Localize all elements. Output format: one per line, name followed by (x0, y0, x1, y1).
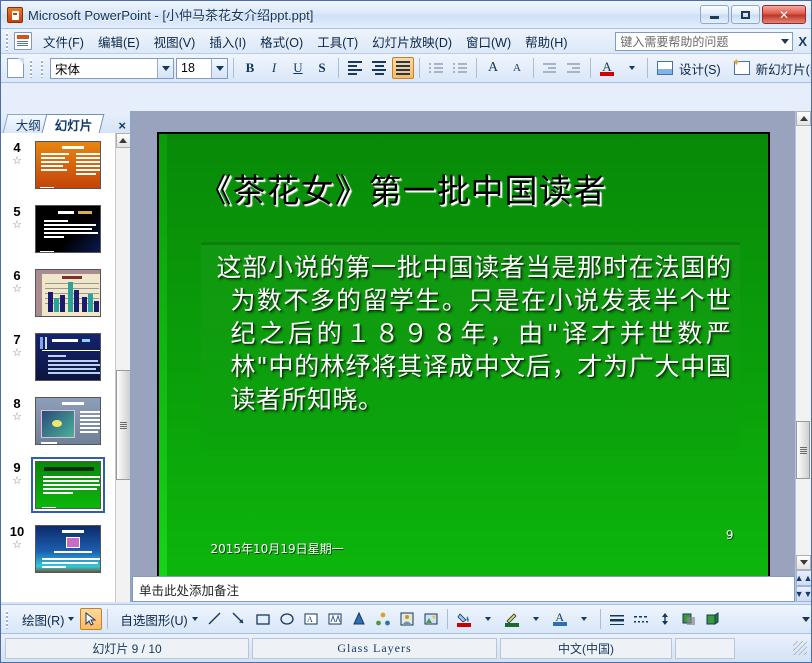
slide-thumbnail (35, 397, 101, 445)
list-item[interactable]: 6 ☆ (1, 265, 115, 321)
thumb-meta: 4 ☆ (3, 137, 31, 167)
animation-icon: ☆ (3, 283, 31, 295)
text-shadow-button[interactable]: S (311, 57, 333, 79)
decrease-indent-icon (543, 63, 557, 73)
font-color-swatch (600, 72, 614, 76)
powerpoint-icon (7, 7, 23, 23)
svg-text:A: A (307, 615, 313, 624)
3d-style-icon[interactable] (702, 608, 724, 630)
italic-button[interactable]: I (263, 57, 285, 79)
thumb-meta: 7 ☆ (3, 329, 31, 359)
chevron-down-icon[interactable] (157, 59, 173, 78)
close-panel-icon[interactable]: × (118, 118, 126, 133)
thumb-meta: 5 ☆ (3, 201, 31, 231)
diagram-icon[interactable] (348, 608, 370, 630)
font-color-button[interactable]: A (596, 57, 618, 79)
table-row[interactable] (31, 521, 105, 577)
table-row[interactable] (31, 393, 105, 449)
ask-a-question-area: 键入需要帮助的问题 X (615, 32, 811, 51)
table-row[interactable] (31, 265, 105, 321)
decrease-font-size-button[interactable]: A (506, 57, 528, 79)
toolbar-separator (590, 58, 591, 78)
previous-slide-button[interactable]: ▲▲ (796, 570, 812, 586)
wordart-icon[interactable] (324, 608, 346, 630)
toolbar-separator (647, 58, 648, 78)
insert-picture-icon[interactable] (420, 608, 442, 630)
text-box-icon[interactable]: A (300, 608, 322, 630)
list-item[interactable]: 8 ☆ (1, 393, 115, 449)
slide-body-text[interactable]: 这部小说的第一批中国读者当是那时在法国的为数不多的留学生。只是在小说发表半个世纪… (217, 251, 732, 416)
bold-button[interactable]: B (239, 57, 261, 79)
line-color-dropdown[interactable] (525, 608, 547, 630)
window-controls: ✕ (700, 5, 809, 24)
scroll-up-button[interactable] (116, 133, 131, 148)
tab-slides[interactable]: 幻灯片 (42, 114, 104, 133)
design-button[interactable]: 设计(S) (652, 57, 729, 80)
slide-panel: 大纲 幻灯片 × 4 ☆ (1, 111, 131, 602)
font-color-dropdown[interactable] (620, 57, 642, 79)
tab-slides-label: 幻灯片 (55, 115, 93, 134)
status-spare (675, 638, 735, 659)
thumb-number: 9 (3, 461, 31, 475)
font-color-icon[interactable]: A (549, 608, 571, 630)
slide-thumbnail (35, 141, 101, 189)
slide-thumbnail (35, 269, 101, 317)
slide-date[interactable]: 2015年10月19日星期一 (211, 540, 411, 558)
toolbar-separator (338, 58, 339, 78)
status-bar: 幻灯片 9 / 10 Glass Layers 中文(中国) (1, 633, 811, 662)
resize-grip-icon[interactable] (793, 641, 807, 655)
oval-icon[interactable] (276, 608, 298, 630)
next-slide-button[interactable]: ▼▼ (796, 586, 812, 602)
line-color-icon[interactable] (501, 608, 523, 630)
slide-body-placeholder[interactable]: 这部小说的第一批中国读者当是那时在法国的为数不多的留学生。只是在小说发表半个世纪… (201, 242, 740, 450)
scroll-track[interactable] (796, 126, 811, 555)
underline-button[interactable]: U (287, 57, 309, 79)
draw-menu-label: 绘图(R) (19, 610, 67, 629)
list-item[interactable]: 5 ☆ (1, 201, 115, 257)
numbered-list-icon (429, 63, 443, 73)
drawbar-options-button[interactable] (800, 607, 811, 631)
ask-a-question-input[interactable]: 键入需要帮助的问题 (615, 32, 793, 51)
scroll-thumb[interactable] (796, 421, 810, 479)
dash-style-icon[interactable] (630, 608, 652, 630)
thumb-meta: 9 ☆ (3, 457, 31, 487)
clip-art-icon[interactable] (396, 608, 418, 630)
slide-thumbnail-selected (35, 461, 101, 509)
minimize-button[interactable] (700, 5, 729, 24)
toolbar-gripper-1[interactable] (28, 59, 35, 78)
close-button[interactable]: ✕ (762, 5, 806, 24)
current-slide[interactable]: 《茶花女》第一批中国读者 这部小说的第一批中国读者当是那时在法国的为数不多的留学… (157, 132, 770, 582)
increase-font-size-button[interactable]: A (482, 57, 504, 79)
slide-title[interactable]: 《茶花女》第一批中国读者 (199, 164, 728, 212)
thumb-number: 7 (3, 333, 31, 347)
font-color-icon: A (602, 61, 611, 72)
animation-icon: ☆ (3, 475, 31, 487)
slide-edit-area[interactable]: 《茶花女》第一批中国读者 这部小说的第一批中国读者当是那时在法国的为数不多的留学… (131, 111, 795, 602)
align-justify-button[interactable] (392, 57, 414, 79)
numbered-list-button[interactable] (425, 57, 447, 79)
thumb-meta: 10 ☆ (3, 521, 31, 551)
autoshapes-label: 自选图形(U) (117, 610, 190, 629)
notes-placeholder: 单击此处添加备注 (139, 580, 239, 599)
design-icon (657, 61, 673, 75)
window-title: Microsoft PowerPoint - [小仲马茶花女介绍ppt.ppt] (28, 5, 313, 24)
decrease-indent-button[interactable] (539, 57, 561, 79)
panel-tabs: 大纲 幻灯片 × (1, 111, 130, 133)
line-icon[interactable] (204, 608, 226, 630)
toolbar-gripper-2[interactable] (39, 59, 46, 78)
table-row[interactable] (31, 201, 105, 257)
font-name-combo[interactable]: 宋体 (50, 58, 174, 79)
restore-button[interactable] (731, 5, 760, 24)
thumb-number: 5 (3, 205, 31, 219)
font-size-combo[interactable]: 18 (176, 58, 228, 79)
arrow-style-icon[interactable] (654, 608, 676, 630)
thumb-number: 10 (3, 525, 31, 539)
align-left-icon (348, 61, 362, 75)
table-row[interactable] (31, 329, 105, 385)
thumb-meta: 6 ☆ (3, 265, 31, 295)
menu-item-window[interactable]: 窗口(W) (459, 29, 518, 54)
toolbar-separator (476, 58, 477, 78)
line-style-icon[interactable] (606, 608, 628, 630)
document-icon (14, 32, 32, 50)
align-left-button[interactable] (344, 57, 366, 79)
arrow-icon[interactable] (228, 608, 250, 630)
increase-indent-button[interactable] (563, 57, 585, 79)
scroll-track[interactable] (116, 148, 131, 602)
shadow-style-icon[interactable] (678, 608, 700, 630)
work-area: 大纲 幻灯片 × 4 ☆ (1, 111, 811, 602)
ask-a-question-placeholder: 键入需要帮助的问题 (620, 33, 728, 50)
powerpoint-window: Microsoft PowerPoint - [小仲马茶花女介绍ppt.ppt]… (0, 0, 812, 663)
formatting-toolbar: 宋体 18 B I U S (1, 54, 811, 83)
list-item[interactable]: 7 ☆ (1, 329, 115, 385)
fill-color-icon[interactable] (453, 608, 475, 630)
select-arrow-icon[interactable] (80, 608, 102, 630)
design-label: 设计(S) (676, 59, 724, 78)
thumbnails-area: 4 ☆ (1, 133, 130, 602)
status-slide-counter: 幻灯片 9 / 10 (5, 638, 249, 659)
toolbar-separator (107, 609, 108, 629)
drawing-toolbar: 绘图(R) 自选图形(U) A (1, 604, 811, 633)
thumb-number: 4 (3, 141, 31, 155)
new-slide-button[interactable]: 新幻灯片(N) (729, 57, 811, 80)
slide-panel-scrollbar[interactable] (115, 133, 130, 602)
animation-icon: ☆ (3, 411, 31, 423)
toolbar-separator (233, 58, 234, 78)
scroll-up-button[interactable] (796, 111, 811, 126)
animation-icon: ☆ (3, 219, 31, 231)
bulleted-list-button[interactable] (449, 57, 471, 79)
font-size-value: 18 (177, 61, 199, 75)
draw-menu-button[interactable]: 绘图(R) (14, 608, 79, 631)
org-chart-icon[interactable] (372, 608, 394, 630)
font-name-value: 宋体 (51, 59, 84, 78)
thumbnail-list[interactable]: 4 ☆ (1, 133, 115, 602)
fill-color-dropdown[interactable] (477, 608, 499, 630)
list-item[interactable]: 9 ☆ (1, 457, 115, 513)
drawbar-gripper[interactable] (4, 610, 11, 629)
list-item[interactable]: 4 ☆ (1, 137, 115, 193)
tab-outline-label: 大纲 (16, 115, 41, 134)
chevron-down-icon[interactable] (211, 59, 227, 78)
menu-item-tools[interactable]: 工具(T) (310, 29, 365, 54)
notes-pane[interactable]: 单击此处添加备注 (132, 576, 795, 602)
chevron-down-icon[interactable] (781, 39, 789, 44)
status-design-template: Glass Layers (252, 638, 497, 659)
toolbar-separator (447, 609, 448, 629)
thumb-number: 8 (3, 397, 31, 411)
bulleted-list-icon (453, 63, 467, 73)
close-icon[interactable]: X (798, 34, 807, 49)
menu-item-edit[interactable]: 编辑(E) (91, 29, 147, 54)
animation-icon: ☆ (3, 539, 31, 551)
scroll-thumb[interactable] (116, 370, 131, 480)
table-row[interactable] (31, 457, 105, 513)
thumb-number: 6 (3, 269, 31, 283)
autoshapes-menu-button[interactable]: 自选图形(U) (112, 608, 202, 631)
menu-item-view[interactable]: 视图(V) (147, 29, 203, 54)
new-slide-label: 新幻灯片(N) (753, 59, 811, 78)
toolbar-separator (533, 58, 534, 78)
font-color-dropdown[interactable] (573, 608, 595, 630)
increase-indent-icon (567, 63, 581, 73)
menu-item-slideshow[interactable]: 幻灯片放映(D) (365, 29, 459, 54)
menu-item-help[interactable]: 帮助(H) (518, 29, 574, 54)
new-document-button[interactable] (4, 57, 26, 79)
list-item[interactable]: 10 ☆ (1, 521, 115, 577)
toolbar-separator (419, 58, 420, 78)
align-center-button[interactable] (368, 57, 390, 79)
slide-thumbnail (35, 333, 101, 381)
slide-thumbnail (35, 525, 101, 573)
thumb-meta: 8 ☆ (3, 393, 31, 423)
align-justify-icon (396, 61, 410, 75)
menu-gripper[interactable] (4, 32, 11, 51)
toolbar-separator (600, 609, 601, 629)
status-language: 中文(中国) (500, 638, 672, 659)
align-center-icon (372, 61, 386, 75)
slide-number[interactable]: 9 (726, 528, 734, 542)
menu-item-format[interactable]: 格式(O) (253, 29, 310, 54)
animation-icon: ☆ (3, 347, 31, 359)
title-bar: Microsoft PowerPoint - [小仲马茶花女介绍ppt.ppt]… (1, 1, 811, 29)
scroll-down-button[interactable] (796, 555, 811, 570)
animation-icon: ☆ (3, 155, 31, 167)
slide-thumbnail (35, 205, 101, 253)
menu-bar: 文件(F) 编辑(E) 视图(V) 插入(I) 格式(O) 工具(T) 幻灯片放… (1, 29, 811, 54)
rectangle-icon[interactable] (252, 608, 274, 630)
new-slide-icon (734, 61, 750, 75)
table-row[interactable] (31, 137, 105, 193)
slide-view-scrollbar[interactable]: ▲▲ ▼▼ (795, 111, 811, 602)
slide-left-accent (159, 134, 167, 580)
menu-item-file[interactable]: 文件(F) (36, 29, 91, 54)
menu-item-insert[interactable]: 插入(I) (202, 29, 253, 54)
